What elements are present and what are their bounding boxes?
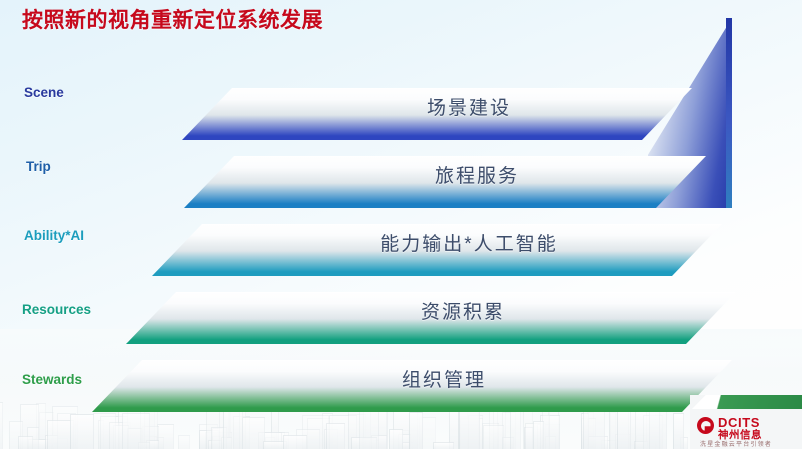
side-label-stewards: Stewards — [22, 372, 82, 387]
pyramid-layer-slab — [184, 156, 710, 208]
pyramid-layer-slab — [92, 360, 736, 412]
pyramid-layer-stack: 场景建设旅程服务能力输出*人工智能资源积累组织管理 — [0, 0, 802, 449]
logo-swirl-icon — [697, 417, 714, 434]
logo-tagline: 洗星金融云平台引领者 — [700, 439, 772, 448]
side-label-scene: Scene — [24, 85, 64, 100]
pyramid-layer[interactable]: 组织管理 — [92, 360, 736, 412]
pyramid-layer-slab — [182, 88, 696, 140]
pyramid-layer-slab — [152, 224, 726, 276]
slide-canvas: 按照新的视角重新定位系统发展 场景建设旅程服务能力输出*人工智能资源积累组织管理… — [0, 0, 802, 449]
side-label-trip: Trip — [26, 159, 51, 174]
side-label-resources: Resources — [22, 302, 91, 317]
pyramid-layer[interactable]: 资源积累 — [126, 292, 740, 344]
pyramid-layer-slab — [126, 292, 740, 344]
pyramid-layer[interactable]: 旅程服务 — [184, 156, 710, 208]
company-logo: DCITS 神州信息 洗星金融云平台引领者 — [690, 395, 802, 449]
pyramid-layer[interactable]: 场景建设 — [182, 88, 696, 140]
side-label-ability-ai: Ability*AI — [24, 228, 84, 243]
pyramid-layer[interactable]: 能力输出*人工智能 — [152, 224, 726, 276]
